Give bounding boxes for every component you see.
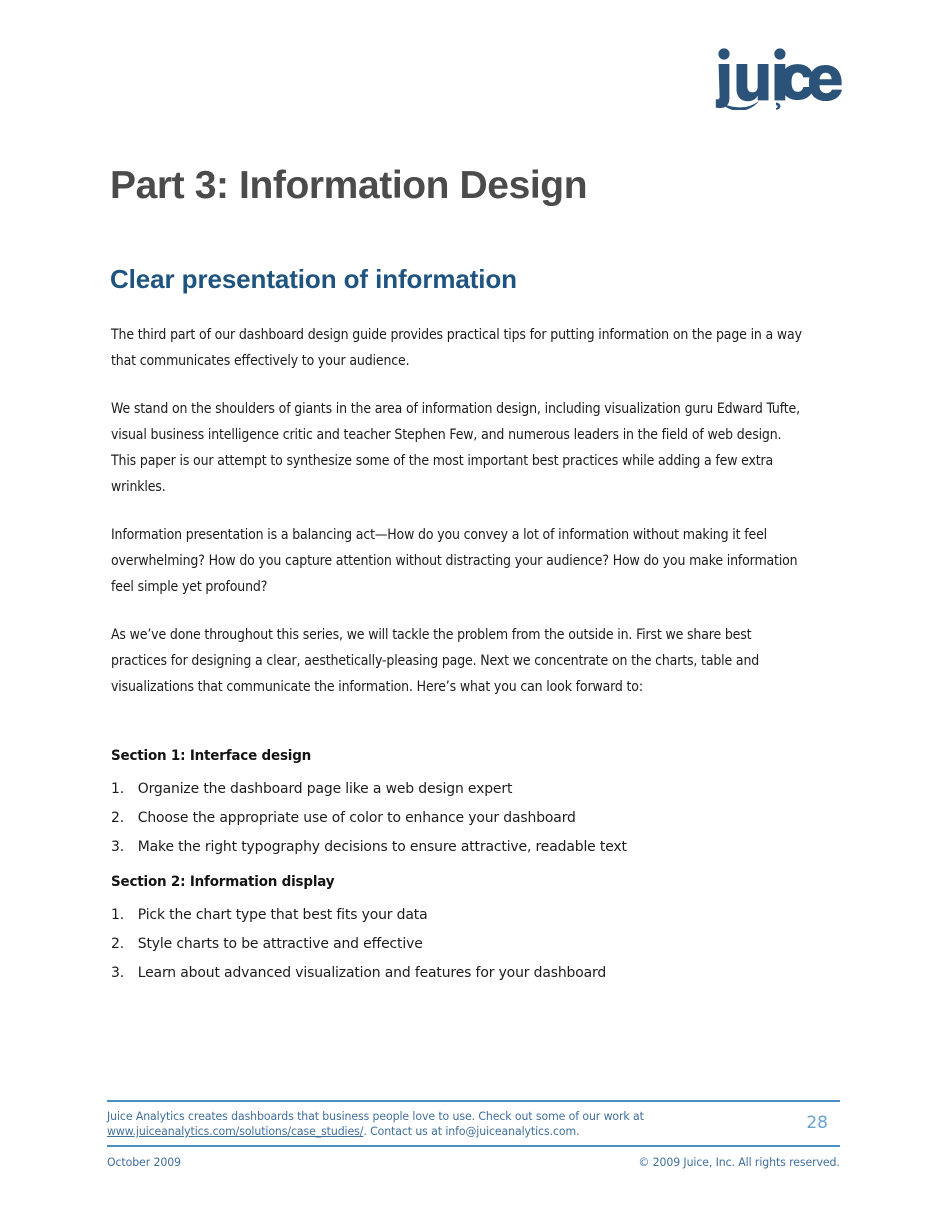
list-item: 2. Style charts to be attractive and eff… [111, 929, 808, 958]
footer-blurb-before: Juice Analytics creates dashboards that … [107, 1109, 644, 1123]
list-item-number: 3. [111, 958, 138, 987]
footer-copyright: © 2009 Juice, Inc. All rights reserved. [639, 1155, 840, 1169]
list-item-text: Learn about advanced visualization and f… [138, 958, 808, 987]
paragraph-3: Information presentation is a balancing … [111, 522, 808, 600]
footer-main-row: Juice Analytics creates dashboards that … [107, 1102, 840, 1145]
juice-logo [712, 48, 842, 110]
paragraph-4: As we’ve done throughout this series, we… [111, 622, 808, 700]
paragraph-1: The third part of our dashboard design g… [111, 322, 808, 374]
section-heading: Section 2: Information display [111, 871, 805, 893]
case-studies-link[interactable]: www.juiceanalytics.com/solutions/case_st… [107, 1124, 363, 1138]
section-heading: Section 1: Interface design [111, 745, 805, 767]
paragraph-2: We stand on the shoulders of giants in t… [111, 396, 808, 500]
list-item: 2. Choose the appropriate use of color t… [111, 803, 808, 832]
list-item-number: 1. [111, 774, 138, 803]
list-item-number: 2. [111, 929, 138, 958]
footer-date: October 2009 [107, 1155, 181, 1169]
section-2: Section 2: Information display 1. Pick t… [111, 871, 841, 987]
page-footer: Juice Analytics creates dashboards that … [107, 1100, 840, 1169]
sections-list: Section 1: Interface design 1. Organize … [111, 745, 841, 997]
list-item: 3. Learn about advanced visualization an… [111, 958, 808, 987]
page-title: Part 3: Information Design [110, 166, 587, 207]
section-1: Section 1: Interface design 1. Organize … [111, 745, 841, 861]
page-number: 28 [806, 1109, 840, 1133]
list-item: 3. Make the right typography decisions t… [111, 832, 808, 861]
list-item: 1. Organize the dashboard page like a we… [111, 774, 808, 803]
list-item-text: Choose the appropriate use of color to e… [138, 803, 808, 832]
list-item-text: Make the right typography decisions to e… [138, 832, 808, 861]
document-page: Part 3: Information Design Clear present… [0, 0, 950, 1230]
list-item-text: Style charts to be attractive and effect… [138, 929, 808, 958]
section-1-items: 1. Organize the dashboard page like a we… [111, 774, 841, 861]
section-2-items: 1. Pick the chart type that best fits yo… [111, 900, 841, 987]
juice-logo-icon [712, 48, 842, 110]
list-item-number: 2. [111, 803, 138, 832]
list-item-number: 3. [111, 832, 138, 861]
list-item-text: Pick the chart type that best fits your … [138, 900, 808, 929]
page-subtitle: Clear presentation of information [110, 264, 517, 295]
list-item: 1. Pick the chart type that best fits yo… [111, 900, 808, 929]
list-item-number: 1. [111, 900, 138, 929]
footer-meta-row: October 2009 © 2009 Juice, Inc. All righ… [107, 1147, 840, 1169]
list-item-text: Organize the dashboard page like a web d… [138, 774, 808, 803]
body-copy: The third part of our dashboard design g… [111, 322, 841, 700]
footer-blurb: Juice Analytics creates dashboards that … [107, 1109, 683, 1139]
footer-blurb-after: . Contact us at info@juiceanalytics.com. [363, 1124, 579, 1138]
